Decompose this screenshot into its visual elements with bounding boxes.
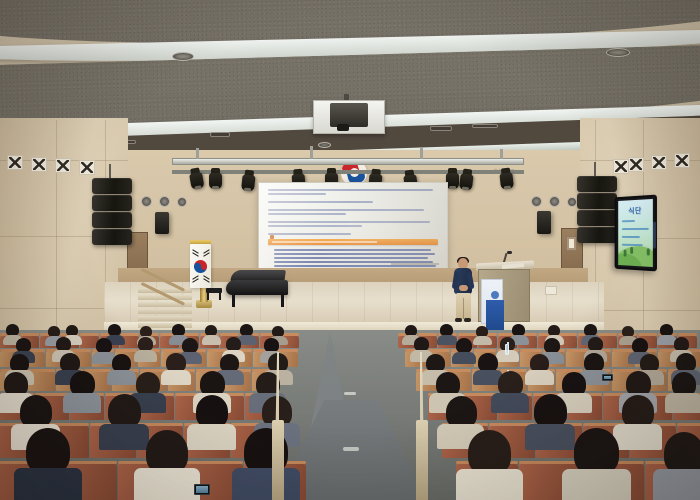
door-window-glass [569,239,574,248]
aisle-step-marker [343,447,359,451]
wall-speaker-box [537,211,551,234]
speaker-module [577,193,617,209]
stage-light-icon [499,167,514,190]
speaker-module [577,210,617,226]
air-vent-icon [472,124,498,128]
speaker-module [577,227,617,243]
piano-leg [232,293,235,307]
aisle-end-panel [416,420,428,500]
wall-speaker-box [155,212,169,234]
piano-bench-leg [207,292,209,300]
stage-light-icon [459,168,475,191]
truss-hanger [310,146,313,159]
presenter-hands [459,285,468,291]
aisle-end-panel [272,420,284,500]
air-vent-icon [430,126,452,131]
aisle-step-marker [344,392,356,395]
wall-speaker-icon [567,197,577,207]
wall-equipment-box [545,286,557,295]
signage-screen: 식단 [618,199,653,267]
lectern-banner [486,300,504,332]
wall-speaker-icon [531,196,542,207]
truss-hanger [196,148,199,159]
speaker-module [92,212,132,228]
piano-bench-leg [219,292,221,300]
signage-title: 식단 [618,205,653,216]
acoustic-diffuser-icon [628,157,644,172]
presenter-shoe [455,318,462,322]
wall-speaker-icon [549,196,560,207]
presenter-shoe [464,318,471,322]
line-array-speaker-right [577,176,617,244]
air-vent-icon [210,132,230,137]
presenter [452,258,474,324]
speaker-module [92,178,132,194]
acoustic-diffuser-icon [7,155,23,170]
wall-speaker-icon [141,196,152,207]
projection-screen [258,182,448,270]
acoustic-diffuser-icon [613,159,629,174]
microphone-icon [507,251,512,254]
line-array-speaker-left [92,178,132,246]
ceiling-speaker-icon [172,52,194,61]
lectern-logo-icon [491,291,499,299]
projector-icon [330,103,368,127]
ceiling-speaker-icon [606,48,630,57]
rigging-cable [594,162,596,176]
acoustic-diffuser-icon [55,158,71,173]
slide-content [259,183,447,269]
wall-speaker-icon [159,196,170,207]
acoustic-diffuser-icon [651,155,667,170]
acoustic-diffuser-icon [79,160,95,175]
truss-hanger [420,147,423,159]
display-side-bezel [653,222,656,249]
auditorium-photo: 参加者用 [0,0,700,500]
piano-leg [281,293,284,307]
door-window [566,236,577,251]
speaker-module [92,229,132,245]
acoustic-diffuser-icon [674,153,690,168]
smartphone[interactable] [194,484,210,495]
stage-handrail [142,268,190,324]
taegukgi-icon [194,260,207,273]
lectern [478,262,532,324]
stage-light-icon [241,169,256,192]
projector-lens-icon [337,124,349,131]
rigging-cable [109,164,111,178]
grand-piano [226,280,288,295]
speaker-module [92,195,132,211]
lectern-body [478,269,530,322]
wall-speaker-icon [177,197,187,207]
smartphone[interactable] [602,374,613,381]
stage-light-icon [209,168,222,190]
lighting-truss [172,158,524,165]
screen-glare [259,183,447,269]
truss-hanger [500,149,503,159]
south-korean-flag [190,244,211,288]
water-bottle [505,344,509,355]
speaker-module [577,176,617,192]
ceiling-speaker-icon [318,142,331,148]
digital-signage-display[interactable]: 식단 [615,195,657,272]
lectern-front-panel [481,279,503,324]
acoustic-diffuser-icon [31,157,47,172]
